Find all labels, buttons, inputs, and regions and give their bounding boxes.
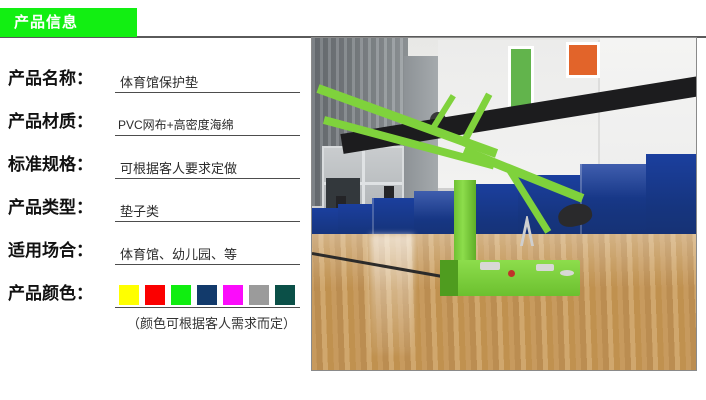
color-swatch-underline	[115, 284, 300, 308]
header-band: 产品信息	[0, 0, 706, 40]
spec-label: 适用场合：	[8, 236, 93, 261]
spec-value-underline: 可根据客人要求定做	[115, 156, 300, 179]
spec-value: PVC网布+高密度海绵	[118, 118, 234, 133]
color-swatch-navy-blue[interactable]	[197, 285, 217, 305]
spec-row-product-type: 产品类型： 垫子类	[0, 181, 305, 224]
spec-value-underline: 垫子类	[115, 199, 300, 222]
section-tab-product-info[interactable]: 产品信息	[0, 8, 137, 37]
spec-row-specification: 标准规格： 可根据客人要求定做	[0, 138, 305, 181]
color-note: （颜色可根据客人需求而定）	[0, 313, 300, 332]
color-swatch-green[interactable]	[171, 285, 191, 305]
spec-row-product-name: 产品名称： 体育馆保护垫	[0, 52, 305, 95]
spec-row-application: 适用场合： 体育馆、幼儿园、等	[0, 224, 305, 267]
photo-floor-reflection	[370, 234, 414, 354]
spec-value-underline: 体育馆保护垫	[115, 70, 300, 93]
section-tab-label: 产品信息	[14, 14, 78, 31]
spec-label: 产品名称：	[8, 64, 93, 89]
color-swatch-red[interactable]	[145, 285, 165, 305]
photo-hoop-base-fitting-b	[536, 264, 554, 271]
photo-hoop-base-fitting-c	[560, 270, 574, 276]
photo-hoop-base-fitting-a	[480, 262, 500, 270]
spec-label: 产品颜色：	[8, 279, 93, 304]
color-swatch-dark-teal[interactable]	[275, 285, 295, 305]
color-swatch-yellow[interactable]	[119, 285, 139, 305]
spec-value: 垫子类	[120, 204, 159, 219]
spec-value: 体育馆、幼儿园、等	[120, 247, 237, 262]
spec-value-underline: PVC网布+高密度海绵	[115, 113, 300, 136]
photo-pad-sheen-b	[580, 164, 646, 198]
product-photo-gymnasium	[312, 38, 696, 370]
color-swatch-magenta[interactable]	[223, 285, 243, 305]
spec-row-material: 产品材质： PVC网布+高密度海绵	[0, 95, 305, 138]
photo-hoop-base-indicator	[508, 270, 515, 277]
spec-label: 产品材质：	[8, 107, 93, 132]
photo-sign-orange	[566, 42, 600, 78]
spec-label: 产品类型：	[8, 193, 93, 218]
color-swatch-gray[interactable]	[249, 285, 269, 305]
product-spec-list: 产品名称： 体育馆保护垫 产品材质： PVC网布+高密度海绵 标准规格： 可根据…	[0, 52, 305, 310]
color-swatch-group	[119, 285, 295, 305]
photo-hoop-base-shadow	[440, 260, 458, 296]
spec-label: 标准规格：	[8, 150, 93, 175]
product-photo-frame	[311, 37, 697, 371]
spec-row-product-color: 产品颜色：	[0, 267, 305, 310]
spec-value: 可根据客人要求定做	[120, 161, 237, 176]
spec-value-underline: 体育馆、幼儿园、等	[115, 242, 300, 265]
photo-sign-green	[508, 46, 534, 110]
spec-value: 体育馆保护垫	[120, 75, 198, 90]
photo-hoop-base	[440, 260, 580, 296]
